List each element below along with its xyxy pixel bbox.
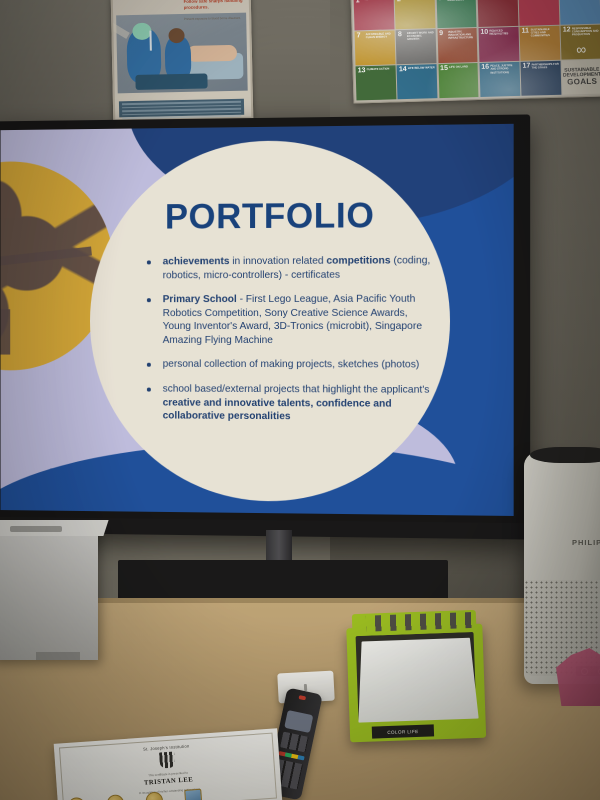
sdg-tile-number: 2 [397, 0, 401, 3]
slide-bullet: Primary School - First Lego League, Asia… [143, 293, 436, 348]
poster-sharps-footer [119, 99, 244, 118]
slide-bullet: school based/external projects that high… [143, 383, 436, 425]
sdg-tile-10: 10REDUCED INEQUALITIES [478, 27, 519, 62]
sdg-tile-label: REDUCED INEQUALITIES [489, 29, 517, 36]
illustration-patient [187, 45, 237, 62]
sdg-tile-17: 17PARTNERSHIPS FOR THE GOALS [520, 61, 561, 96]
remote-dpad[interactable] [284, 710, 313, 733]
sdg-tile-number: 7 [357, 32, 361, 39]
sdg-tile-3: 3GOOD HEALTH AND WELL-BEING [436, 0, 477, 28]
seal-icon [106, 794, 124, 800]
sdg-tile-label: QUALITY EDUCATION [488, 0, 516, 1]
bullet-emphasis: achievements [163, 256, 230, 267]
monitor-screen: PORTFOLIO achievements in innovation rel… [1, 124, 514, 516]
bullet-text: in innovation related [229, 256, 326, 267]
sdg-tile-1: 1NO POVERTY [354, 0, 395, 30]
paper-tray[interactable]: COLOR LIFE [346, 610, 486, 743]
sdg-tile-label: SUSTAINABLE CITIES AND COMMUNITIES [531, 28, 559, 38]
tray-body: COLOR LIFE [346, 624, 486, 743]
photo-scene: Follow safe sharps handling procedures. … [0, 0, 600, 800]
printer-foot [36, 652, 80, 660]
sdg-tile-4: 4QUALITY EDUCATION [477, 0, 518, 27]
sdg-tile-7: 7AFFORDABLE AND CLEAN ENERGY [355, 30, 396, 65]
sdg-tile-number: 1 [356, 0, 360, 4]
sdg-tile-6: 6CLEAN WATER AND SANITATION [560, 0, 600, 24]
bullet-text: personal collection of making projects, … [163, 359, 420, 371]
poster-sharps-heading: Follow safe sharps handling procedures. [184, 0, 247, 10]
sdg-tile-11: 11SUSTAINABLE CITIES AND COMMUNITIES [520, 26, 561, 61]
sdg-tile-label: PARTNERSHIPS FOR THE GOALS [532, 63, 560, 70]
remote-button-grid[interactable] [280, 732, 309, 753]
tray-brand-label: COLOR LIFE [372, 724, 434, 738]
sdg-tile-label: LIFE BELOW WATER [408, 67, 436, 71]
printer-paper-slot [10, 526, 62, 532]
sdg-tile-label: CLIMATE ACTION [367, 68, 395, 72]
bullet-emphasis: creative and innovative talents, confide… [163, 397, 392, 422]
seal-icon [145, 791, 163, 800]
sdg-tile-number: 17 [523, 63, 531, 70]
sdg-tile-12: 12RESPONSIBLE CONSUMPTION AND PRODUCTION… [561, 25, 600, 60]
sdg-tile-label: INDUSTRY, INNOVATION AND INFRASTRUCTURE [448, 30, 476, 40]
sdg-tile-8: 8DECENT WORK AND ECONOMIC GROWTH [396, 29, 437, 64]
sdg-logo-line3: GOALS [567, 78, 597, 87]
sdg-logo-block: SUSTAINABLE DEVELOPMENT GOALS [562, 60, 600, 95]
poster-sdg-goals: 1NO POVERTY2ZERO HUNGER3GOOD HEALTH AND … [351, 0, 600, 103]
sdg-tile-label: GOOD HEALTH AND WELL-BEING [447, 0, 475, 2]
philips-brand-label: PHILIPS [572, 538, 600, 547]
tray-comb-slots [366, 612, 474, 632]
tray-back-panel [352, 610, 477, 636]
illustration-instrument-tray [135, 73, 207, 90]
poster-sharps-illustration [116, 13, 248, 94]
sdg-tile-label: RESPONSIBLE CONSUMPTION AND PRODUCTION [572, 27, 600, 37]
woodcut-machine [1, 309, 11, 354]
sdg-tile-number: 11 [522, 28, 530, 35]
sdg-tile-2: 2ZERO HUNGER [395, 0, 436, 29]
bullet-emphasis: Primary School [163, 294, 237, 305]
bullet-emphasis: competitions [326, 255, 390, 266]
sdg-tile-number: 4 [479, 0, 483, 1]
sdg-tile-label: AFFORDABLE AND CLEAN ENERGY [366, 33, 394, 40]
school-crest-icon [159, 752, 175, 769]
tray-paper-stack [358, 638, 478, 723]
sdg-tile-label: PEACE, JUSTICE AND STRONG INSTITUTIONS [490, 64, 518, 74]
sdg-tile-number: 9 [439, 30, 443, 37]
sdg-tile-label: NO POVERTY [365, 0, 393, 1]
purifier-air-outlet [530, 447, 600, 463]
sdg-tile-15: 15LIFE ON LAND [438, 63, 479, 98]
sdg-tile-number: 10 [480, 29, 488, 36]
sdg-tile-label: DECENT WORK AND ECONOMIC GROWTH [407, 31, 435, 41]
presentation-slide: PORTFOLIO achievements in innovation rel… [1, 124, 514, 516]
lg-monitor: PORTFOLIO achievements in innovation rel… [0, 114, 530, 539]
sdg-tile-5: 5GENDER EQUALITY [519, 0, 560, 25]
slide-bullet: achievements in innovation related compe… [143, 254, 436, 282]
slide-bullet: personal collection of making projects, … [143, 358, 436, 372]
sdg-tile-number: 16 [481, 64, 489, 71]
seal-icon [184, 789, 202, 800]
tray-brand-text: COLOR LIFE [387, 728, 418, 734]
slide-bullet-list: achievements in innovation related compe… [143, 254, 436, 436]
sdg-tile-9: 9INDUSTRY, INNOVATION AND INFRASTRUCTURE [437, 28, 478, 63]
sdg-tile-14: 14LIFE BELOW WATER [397, 64, 438, 99]
slide-title: PORTFOLIO [115, 198, 425, 235]
remote-power-button[interactable] [298, 695, 306, 700]
sdg-tile-number: 13 [358, 67, 366, 74]
sdg-tile-label: LIFE ON LAND [449, 65, 477, 69]
sdg-tile-13: 13CLIMATE ACTION [356, 66, 397, 101]
sdg-tile-number: 12 [563, 27, 571, 34]
sdg-tile-number: 8 [398, 31, 402, 38]
poster-sharps-safety: Follow safe sharps handling procedures. … [111, 0, 254, 121]
sdg-tile-number: 15 [440, 65, 448, 72]
illustration-syringe [149, 31, 151, 51]
sdg-tile-glyph: ∞ [576, 41, 586, 57]
bullet-text: school based/external projects that high… [163, 384, 430, 396]
sdg-tile-16: 16PEACE, JUSTICE AND STRONG INSTITUTIONS [479, 62, 520, 97]
sdg-tile-number: 3 [438, 0, 442, 2]
sdg-tile-number: 14 [399, 66, 407, 73]
printer-box [0, 528, 98, 660]
